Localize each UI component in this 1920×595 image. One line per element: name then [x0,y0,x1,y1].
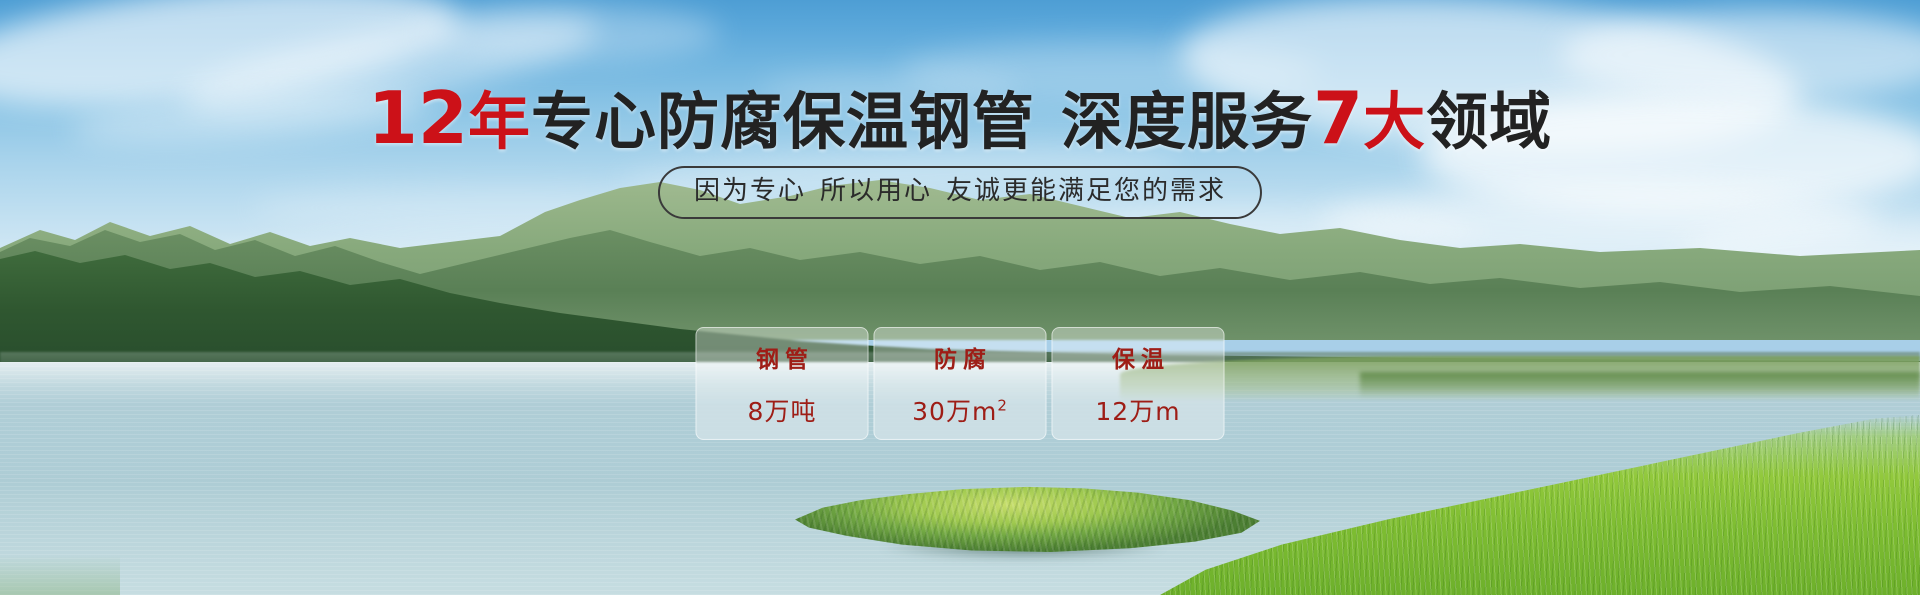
headline-years-unit: 年 [468,85,531,158]
subtitle-pill: 因为专心所以用心友诚更能满足您的需求 [658,166,1262,219]
subtitle-part-1: 因为专心 [694,176,806,206]
headline-years-number: 12 [368,76,468,160]
stat-card-value: 8万吨 [748,392,817,428]
stat-card-title: 保温 [1106,340,1170,374]
headline-fields-number: 7 [1313,76,1363,160]
stat-card-steel-pipe: 钢管 8万吨 [696,327,869,440]
stat-card-value: 30万m2 [912,392,1008,428]
banner-overlay: 12年专心防腐保温钢管深度服务7大领域 因为专心所以用心友诚更能满足您的需求 钢… [0,0,1920,595]
subtitle-part-3: 友诚更能满足您的需求 [946,176,1226,206]
headline-fields-suffix: 领域 [1426,85,1552,158]
headline-service-prefix: 深度服务 [1061,85,1313,158]
stat-value-text: 8万吨 [748,397,817,426]
headline-main-text: 专心防腐保温钢管 [531,85,1035,158]
stat-card-title: 钢管 [750,340,814,374]
subtitle-part-2: 所以用心 [820,176,932,206]
stat-value-text: 12万m [1095,397,1180,426]
promo-banner: 12年专心防腐保温钢管深度服务7大领域 因为专心所以用心友诚更能满足您的需求 钢… [0,0,1920,595]
stat-card-anticorrosion: 防腐 30万m2 [874,327,1047,440]
stat-card-insulation: 保温 12万m [1052,327,1225,440]
headline-fields-unit: 大 [1363,85,1426,158]
stat-value-text: 30万m [912,397,997,426]
stat-card-title: 防腐 [928,340,992,374]
headline: 12年专心防腐保温钢管深度服务7大领域 [0,82,1920,154]
stat-card-value: 12万m [1095,392,1180,428]
stat-cards: 钢管 8万吨 防腐 30万m2 保温 12万m [696,327,1225,440]
stat-value-superscript: 2 [997,396,1008,414]
